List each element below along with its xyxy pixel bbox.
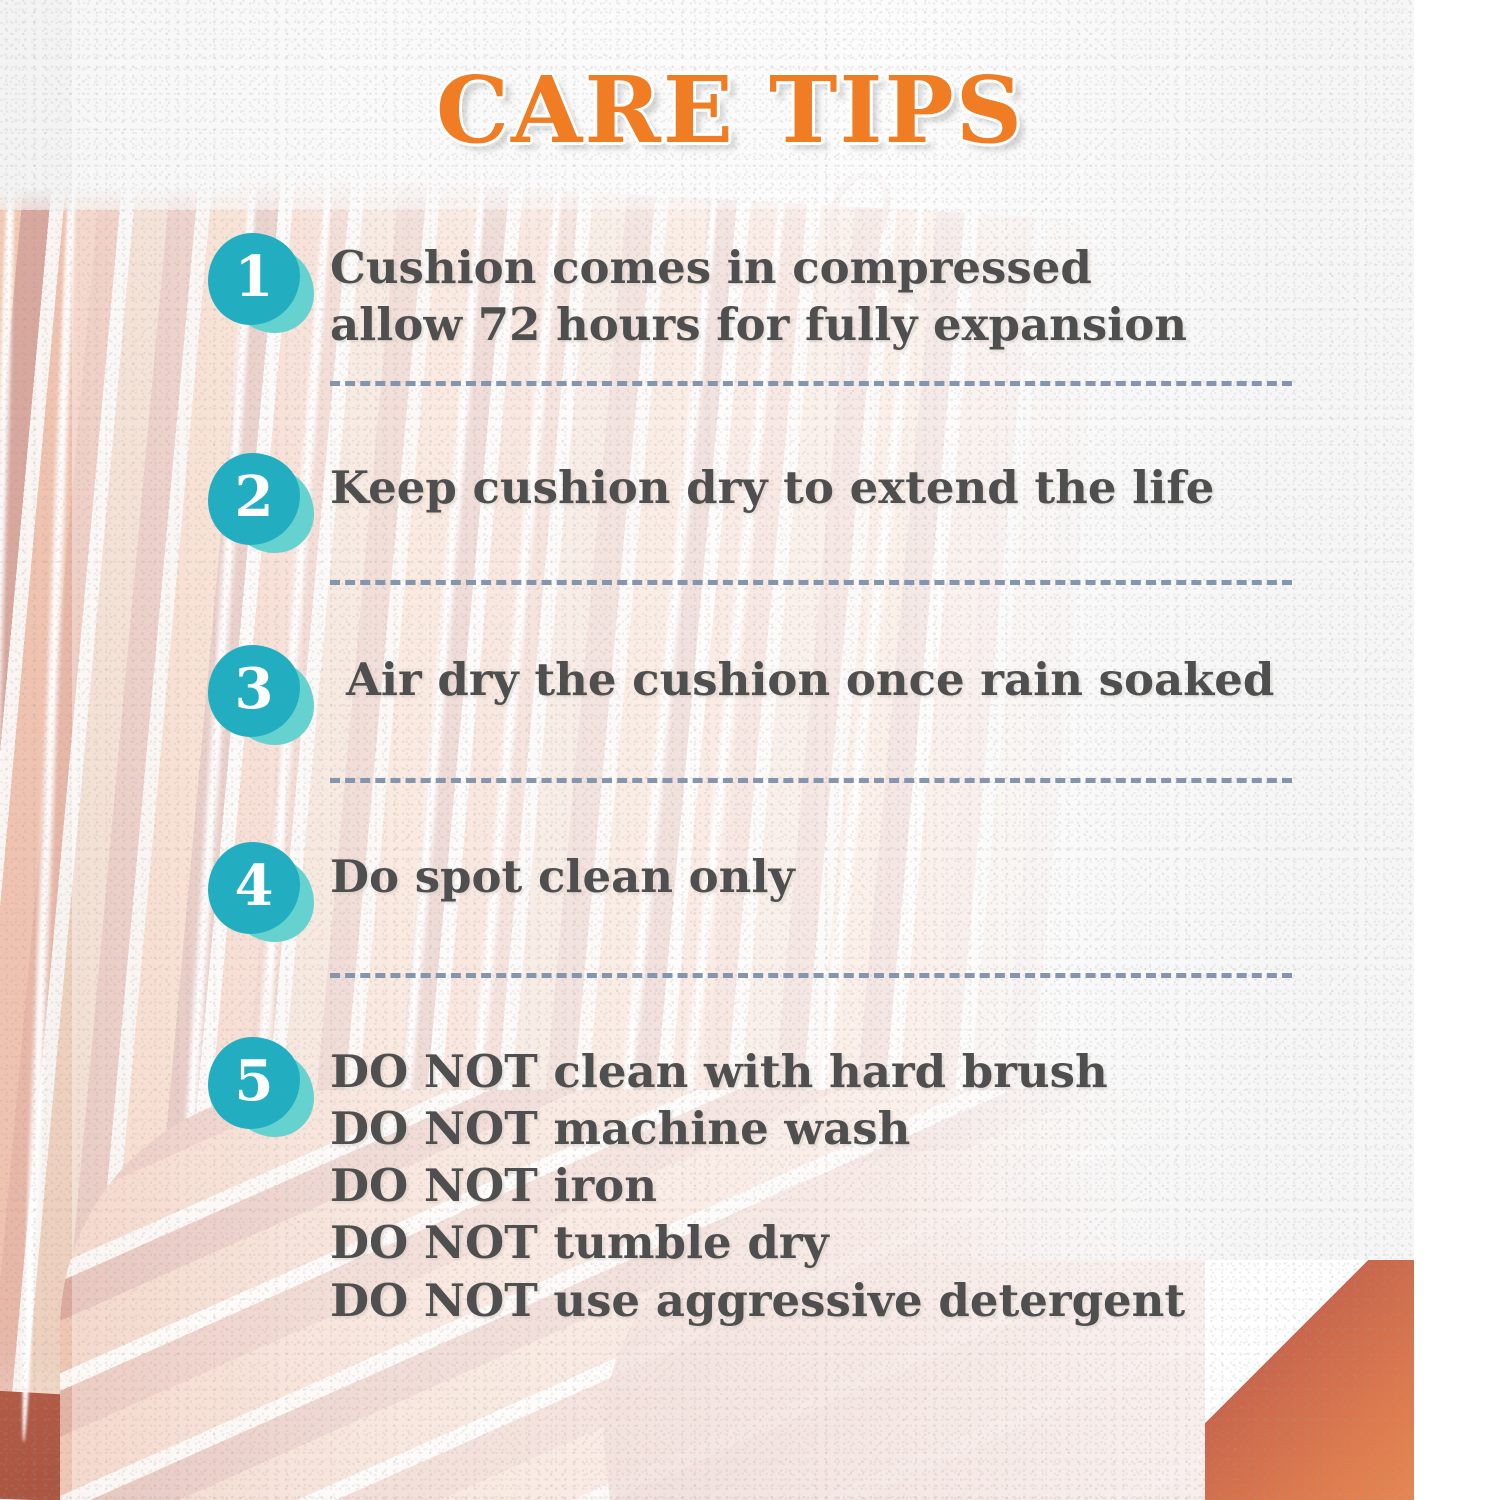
tip-number-badge: 2 [208, 453, 312, 557]
page-title: CARE TIPS [0, 56, 1460, 164]
tip-text: Keep cushion dry to extend the life [330, 459, 1214, 516]
list-item: 3 Air dry the cushion once rain soaked [0, 645, 1415, 749]
list-item: 5 DO NOT clean with hard brush DO NOT ma… [0, 1037, 1415, 1329]
list-item: 4 Do spot clean only [0, 842, 1415, 946]
tip-number-badge: 3 [208, 645, 312, 749]
tip-text: DO NOT clean with hard brush DO NOT mach… [330, 1043, 1185, 1329]
divider [330, 381, 1292, 386]
poster-content: CARE TIPS 1 Cushion comes in compressed … [0, 0, 1500, 1500]
tip-text: Air dry the cushion once rain soaked [346, 651, 1274, 708]
tip-text: Do spot clean only [330, 848, 795, 905]
divider [330, 580, 1292, 585]
care-tips-poster: CARE TIPS 1 Cushion comes in compressed … [0, 0, 1500, 1500]
tip-text: Cushion comes in compressed allow 72 hou… [330, 239, 1187, 353]
list-item: 2 Keep cushion dry to extend the life [0, 453, 1415, 557]
tip-number-badge: 5 [208, 1037, 312, 1141]
tip-number-badge: 1 [208, 233, 312, 337]
divider [330, 778, 1292, 783]
list-item: 1 Cushion comes in compressed allow 72 h… [0, 233, 1415, 353]
divider [330, 973, 1292, 978]
tip-number-badge: 4 [208, 842, 312, 946]
